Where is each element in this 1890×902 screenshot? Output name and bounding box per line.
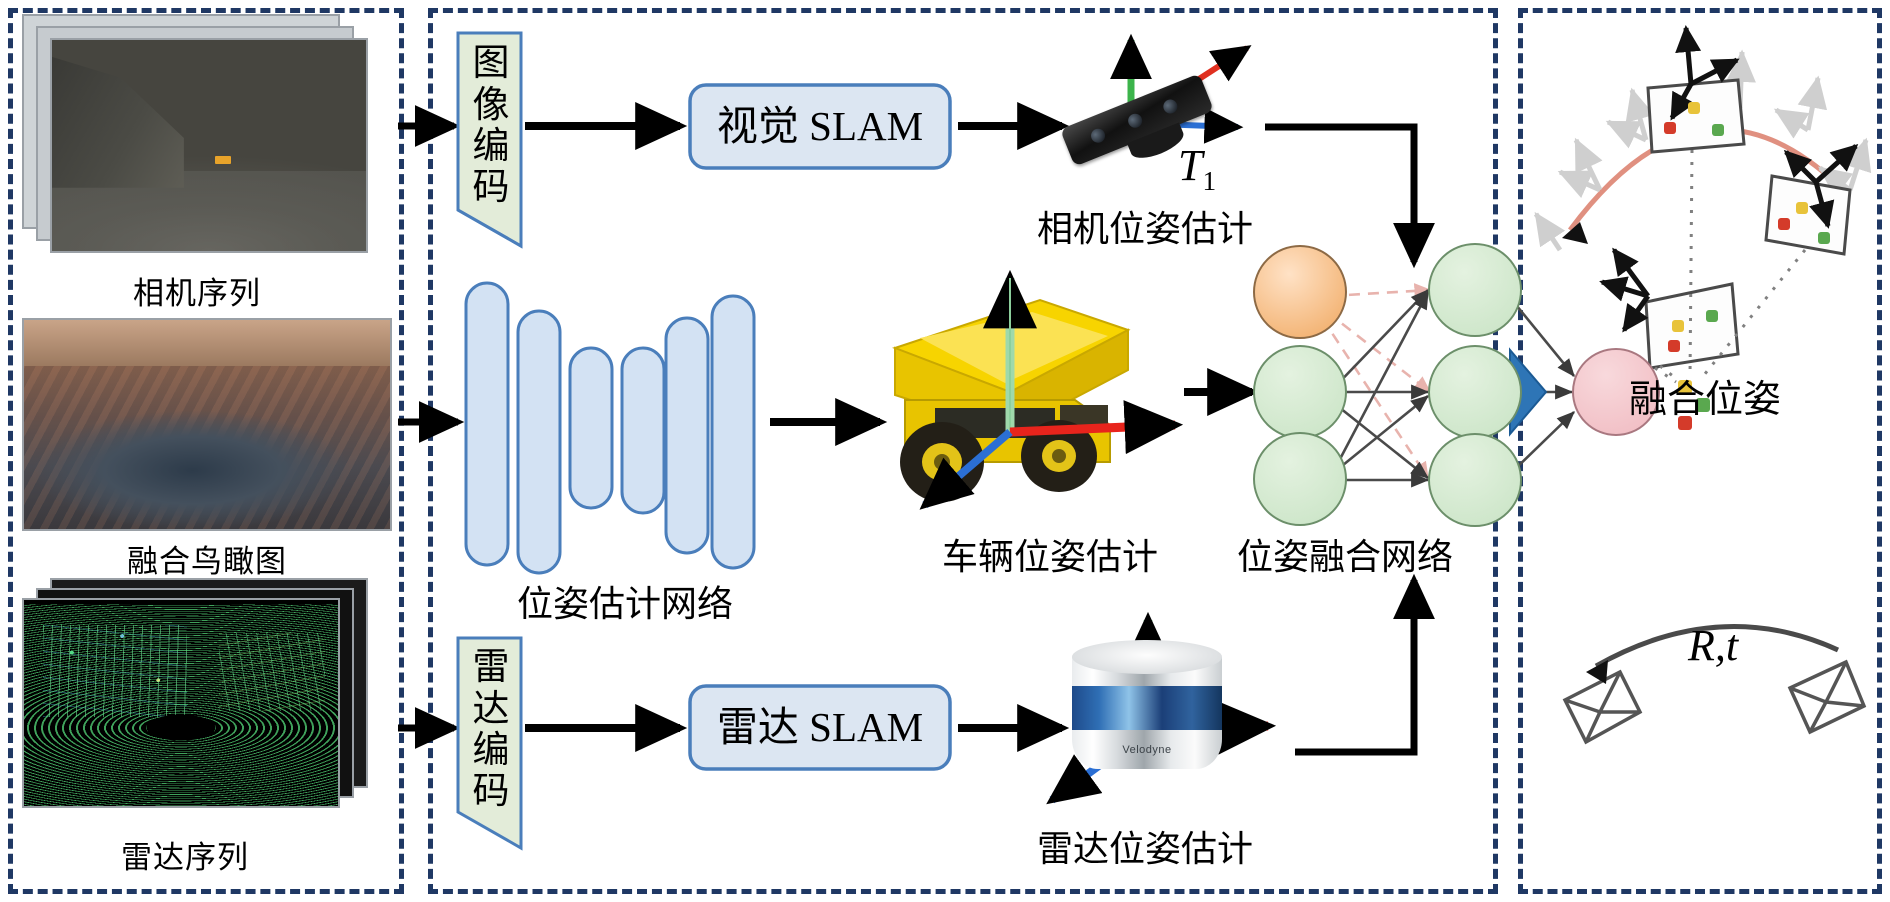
fusion-node-hidden-3 [1428,433,1522,527]
rt-transform-label: R,t [1688,620,1738,671]
diagram-vector-layer [0,0,1890,902]
lidar-slam-box [690,686,950,769]
camera-pose-symbol: T1 [1178,140,1216,197]
fusion-network-label: 位姿融合网络 [1200,528,1490,580]
visual-slam-box [690,85,950,168]
image-encoder-shape [458,33,521,246]
camera-pose-label: 相机位姿估计 [1000,200,1290,252]
lidar-encoder-shape [458,638,521,848]
arrow-lidar-pose-to-fusion [1295,580,1414,752]
camera-pose-symbol-T: T [1178,141,1202,190]
fused-pose-label: 融合位姿 [1560,368,1850,423]
velodyne-brand-label: Velodyne [1072,744,1222,756]
fusion-node-hidden-1 [1428,243,1522,337]
rt-camera-pair [1565,662,1864,742]
pose-network-bars [466,283,754,573]
fusion-node-input-lidar [1253,432,1347,526]
vehicle-pose-label: 车辆位姿估计 [905,528,1195,580]
pose-network-label: 位姿估计网络 [480,575,770,627]
fusion-node-input-camera [1253,245,1347,339]
fusion-node-input-vehicle [1253,345,1347,439]
fusion-node-hidden-2 [1428,345,1522,439]
dump-truck-icon [895,278,1175,505]
lidar-pose-label: 雷达位姿估计 [1000,820,1290,872]
camera-pose-symbol-sub: 1 [1202,166,1216,196]
figure-canvas: 相机序列 融合鸟瞰图 雷达序列 [0,0,1890,902]
